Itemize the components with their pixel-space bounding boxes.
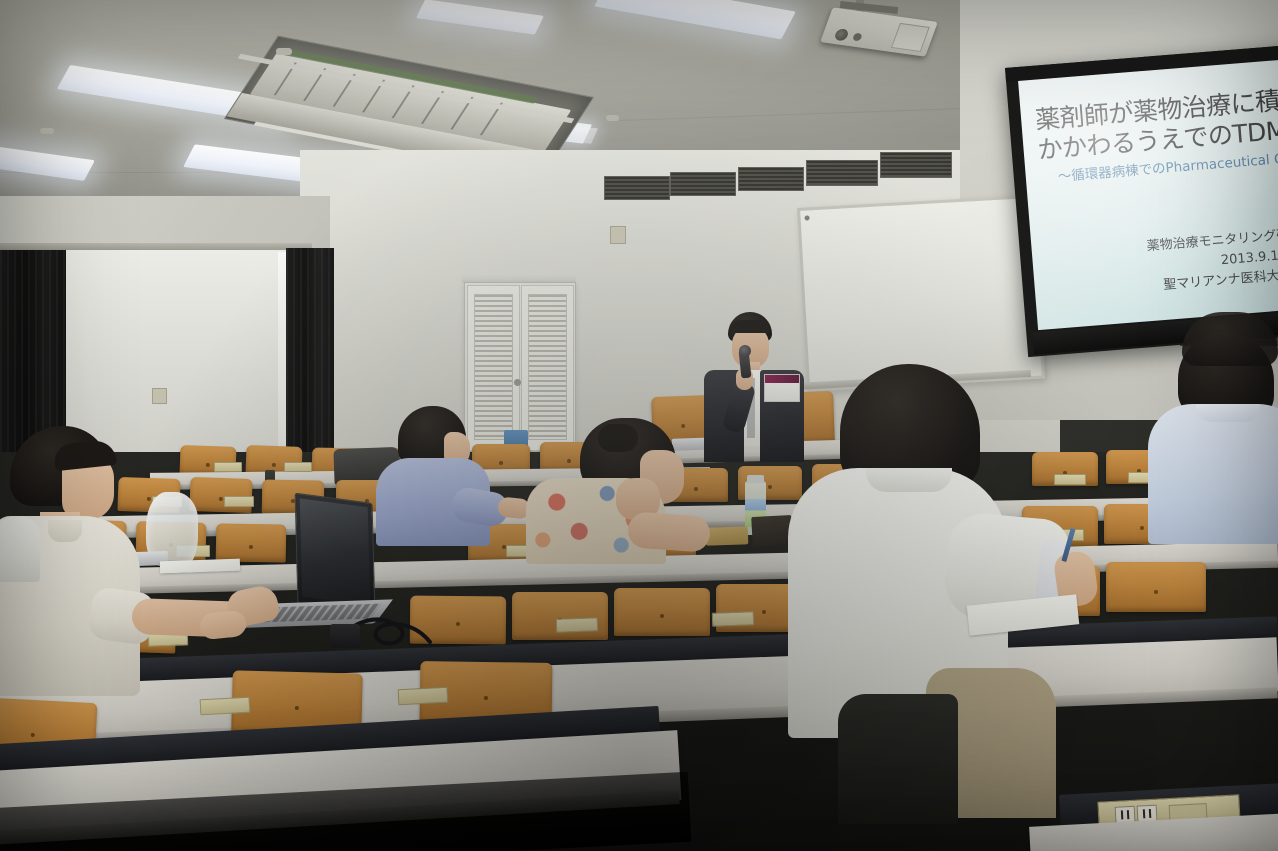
- attendee-edge-right: [1182, 312, 1278, 372]
- ceiling-light-panel: [434, 106, 592, 143]
- ceiling-light-panel: [594, 0, 796, 39]
- ceiling-panel-edge: [238, 54, 575, 123]
- attendee-shirt: [1148, 404, 1278, 544]
- seat-number-plate: [712, 611, 754, 626]
- bottle-cap: [747, 475, 764, 483]
- wall-vent-grille: [880, 152, 952, 178]
- projector-mount-arm: [840, 1, 898, 14]
- sprinkler-head: [40, 128, 54, 134]
- wall-switch-plate[interactable]: [152, 388, 167, 404]
- wall-vent-grille: [806, 160, 878, 186]
- ceiling-light-panel: [437, 112, 598, 144]
- wall-vent-grille: [670, 172, 736, 196]
- ceiling-light-panel: [0, 145, 95, 181]
- wall-vent-grille: [738, 167, 804, 191]
- seat-number-plate: [398, 687, 449, 706]
- seat-back[interactable]: [512, 592, 608, 640]
- wall-outlet[interactable]: [610, 226, 626, 244]
- attendee-hair-bun: [598, 424, 638, 452]
- attendee-white-shirt: [770, 364, 1100, 824]
- microphone-head: [739, 345, 751, 357]
- wall-vent-grille: [604, 176, 670, 200]
- projector-mount: [856, 0, 864, 18]
- projection-screen: 薬剤師が薬物治療に積極的に かかわるうえでのTDM の役割 〜循環器病棟でのPh…: [1005, 44, 1278, 357]
- attendee-arm: [627, 511, 711, 553]
- whiteboard: [797, 195, 1045, 392]
- slide-surface: 薬剤師が薬物治療に積極的に かかわるうえでのTDM の役割 〜循環器病棟でのPh…: [1018, 58, 1278, 330]
- attendee-floral: [520, 418, 700, 558]
- seat-back[interactable]: [1106, 562, 1206, 612]
- sprinkler-head: [276, 48, 292, 55]
- ceiling-light-panel: [57, 65, 298, 125]
- seat-back[interactable]: [614, 588, 710, 636]
- presenter-hair-front: [730, 320, 770, 333]
- attendee-edge-left: [0, 516, 54, 586]
- gold-case[interactable]: [706, 526, 749, 545]
- sprinkler-head: [606, 115, 619, 121]
- attendee-blue-shirt: [372, 406, 522, 536]
- seat-number-plate: [200, 697, 251, 716]
- projector: [820, 7, 938, 56]
- door-knob[interactable]: [514, 379, 521, 386]
- ceiling-light-panel: [416, 0, 544, 35]
- lecture-hall-photo: 薬剤師が薬物治療に積極的に かかわるうえでのTDM の役割 〜循環器病棟でのPh…: [0, 0, 1278, 851]
- seat-number-plate: [556, 617, 598, 632]
- power-adapter[interactable]: [330, 624, 360, 648]
- attendee-hand-2: [199, 610, 247, 641]
